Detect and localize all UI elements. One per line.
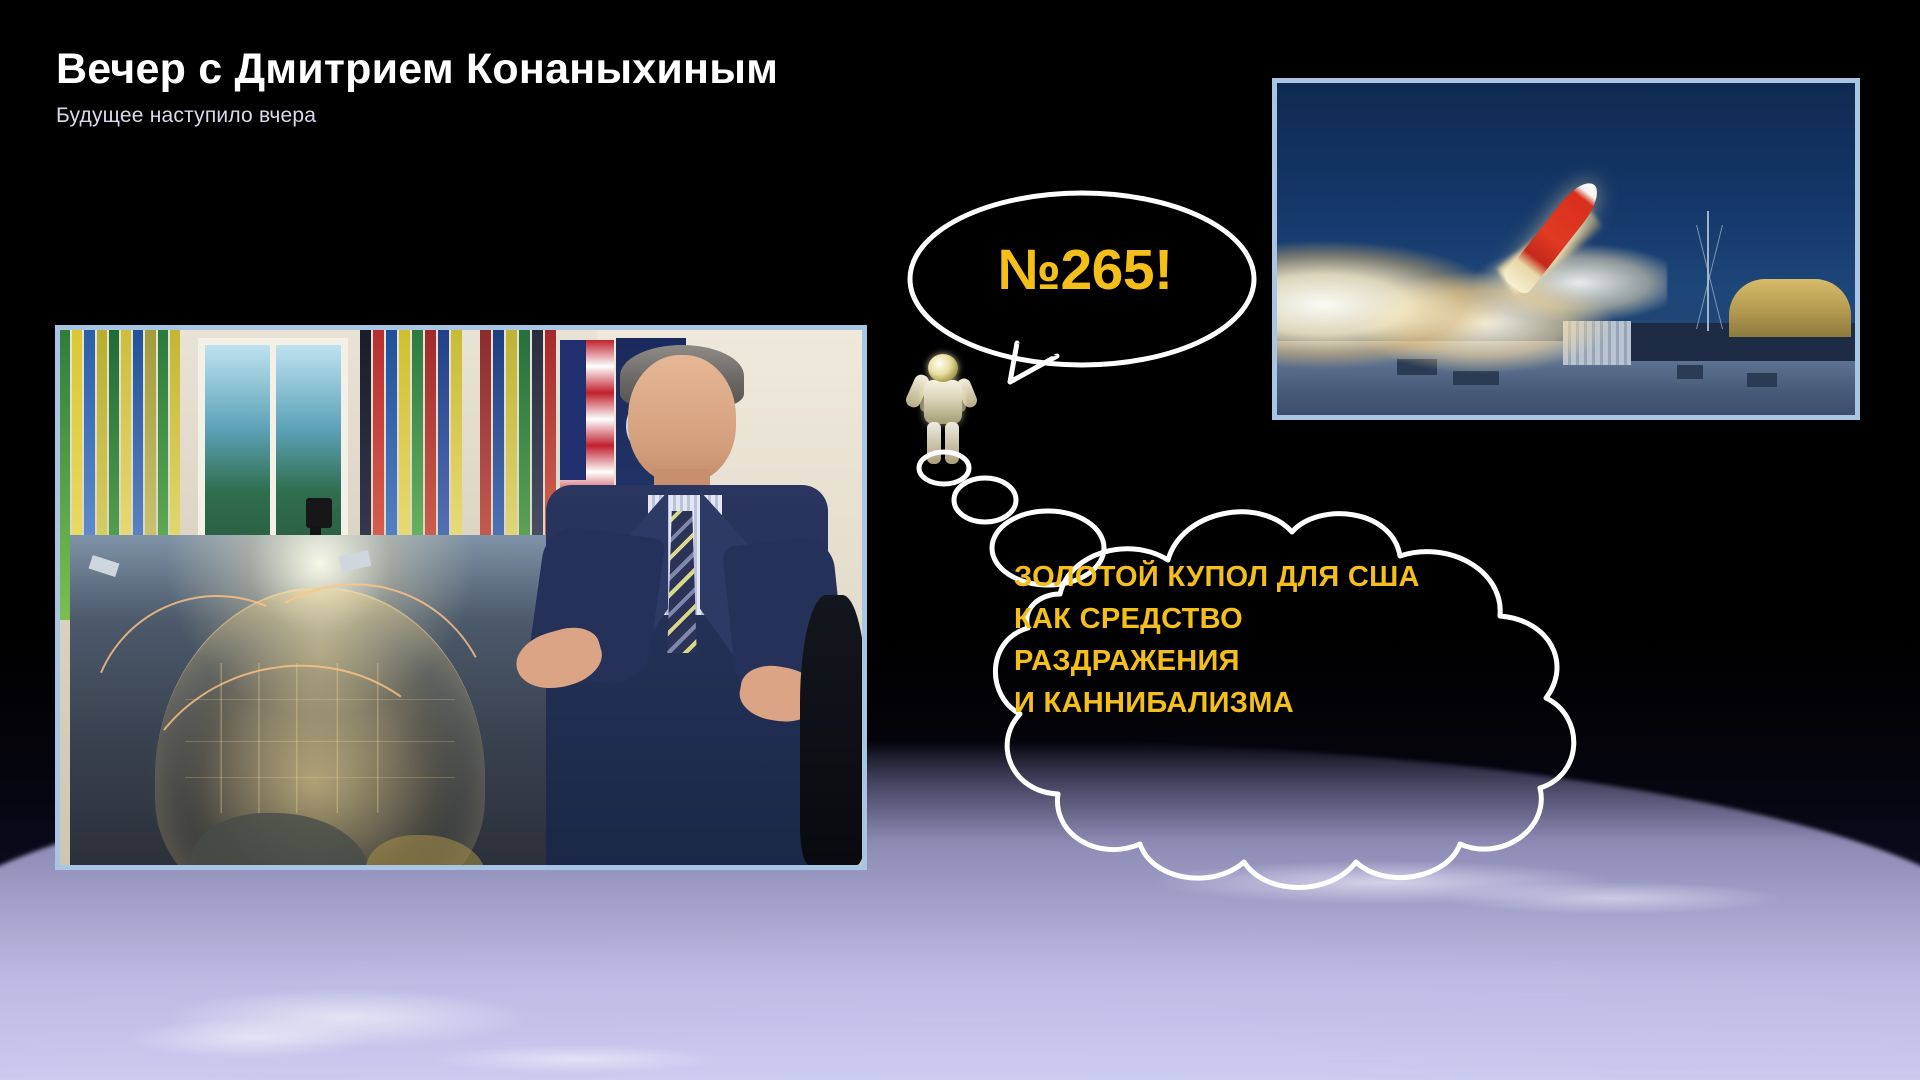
ground-block: [1677, 365, 1703, 379]
satellite: [339, 550, 372, 572]
astronaut-torso: [924, 380, 962, 424]
page-subtitle: Будущее наступило вчера: [56, 104, 778, 128]
bronze-statue: [800, 595, 866, 865]
thought-line-1: ЗОЛОТОЙ КУПОЛ ДЛЯ США: [1014, 556, 1574, 598]
oval-office-scene: GOLDEN DOME FOR AMERICA: [60, 330, 862, 865]
easel-top: [306, 498, 332, 528]
thought-cloud: ЗОЛОТОЙ КУПОЛ ДЛЯ США КАК СРЕДСТВО РАЗДР…: [900, 448, 1660, 908]
speech-bubble: №265!: [905, 186, 1265, 386]
person-speaking: [542, 345, 832, 865]
slide-canvas: Вечер с Дмитрием Конаныхиным Будущее нас…: [0, 0, 1920, 1080]
photo-oval-office-golden-dome: GOLDEN DOME FOR AMERICA: [55, 325, 867, 870]
ground-block: [1747, 373, 1777, 387]
thought-line-3: РАЗДРАЖЕНИЯ: [1014, 640, 1574, 682]
photo-missile-launch: [1272, 78, 1860, 420]
page-title: Вечер с Дмитрием Конаныхиным: [56, 46, 778, 93]
header-block: Вечер с Дмитрием Конаныхиным Будущее нас…: [56, 46, 778, 128]
satellite: [89, 555, 120, 577]
thought-line-2: КАК СРЕДСТВО: [1014, 598, 1574, 640]
exhaust-plume: [1272, 211, 1667, 391]
thought-cloud-text: ЗОЛОТОЙ КУПОЛ ДЛЯ США КАК СРЕДСТВО РАЗДР…: [1014, 556, 1574, 724]
golden-dome-poster: GOLDEN DOME FOR AMERICA: [70, 535, 570, 870]
thought-line-4: И КАННИБАЛИЗМА: [1014, 682, 1574, 724]
head: [628, 355, 736, 483]
antenna-mast: [1707, 211, 1709, 331]
episode-number: №265!: [905, 242, 1265, 299]
